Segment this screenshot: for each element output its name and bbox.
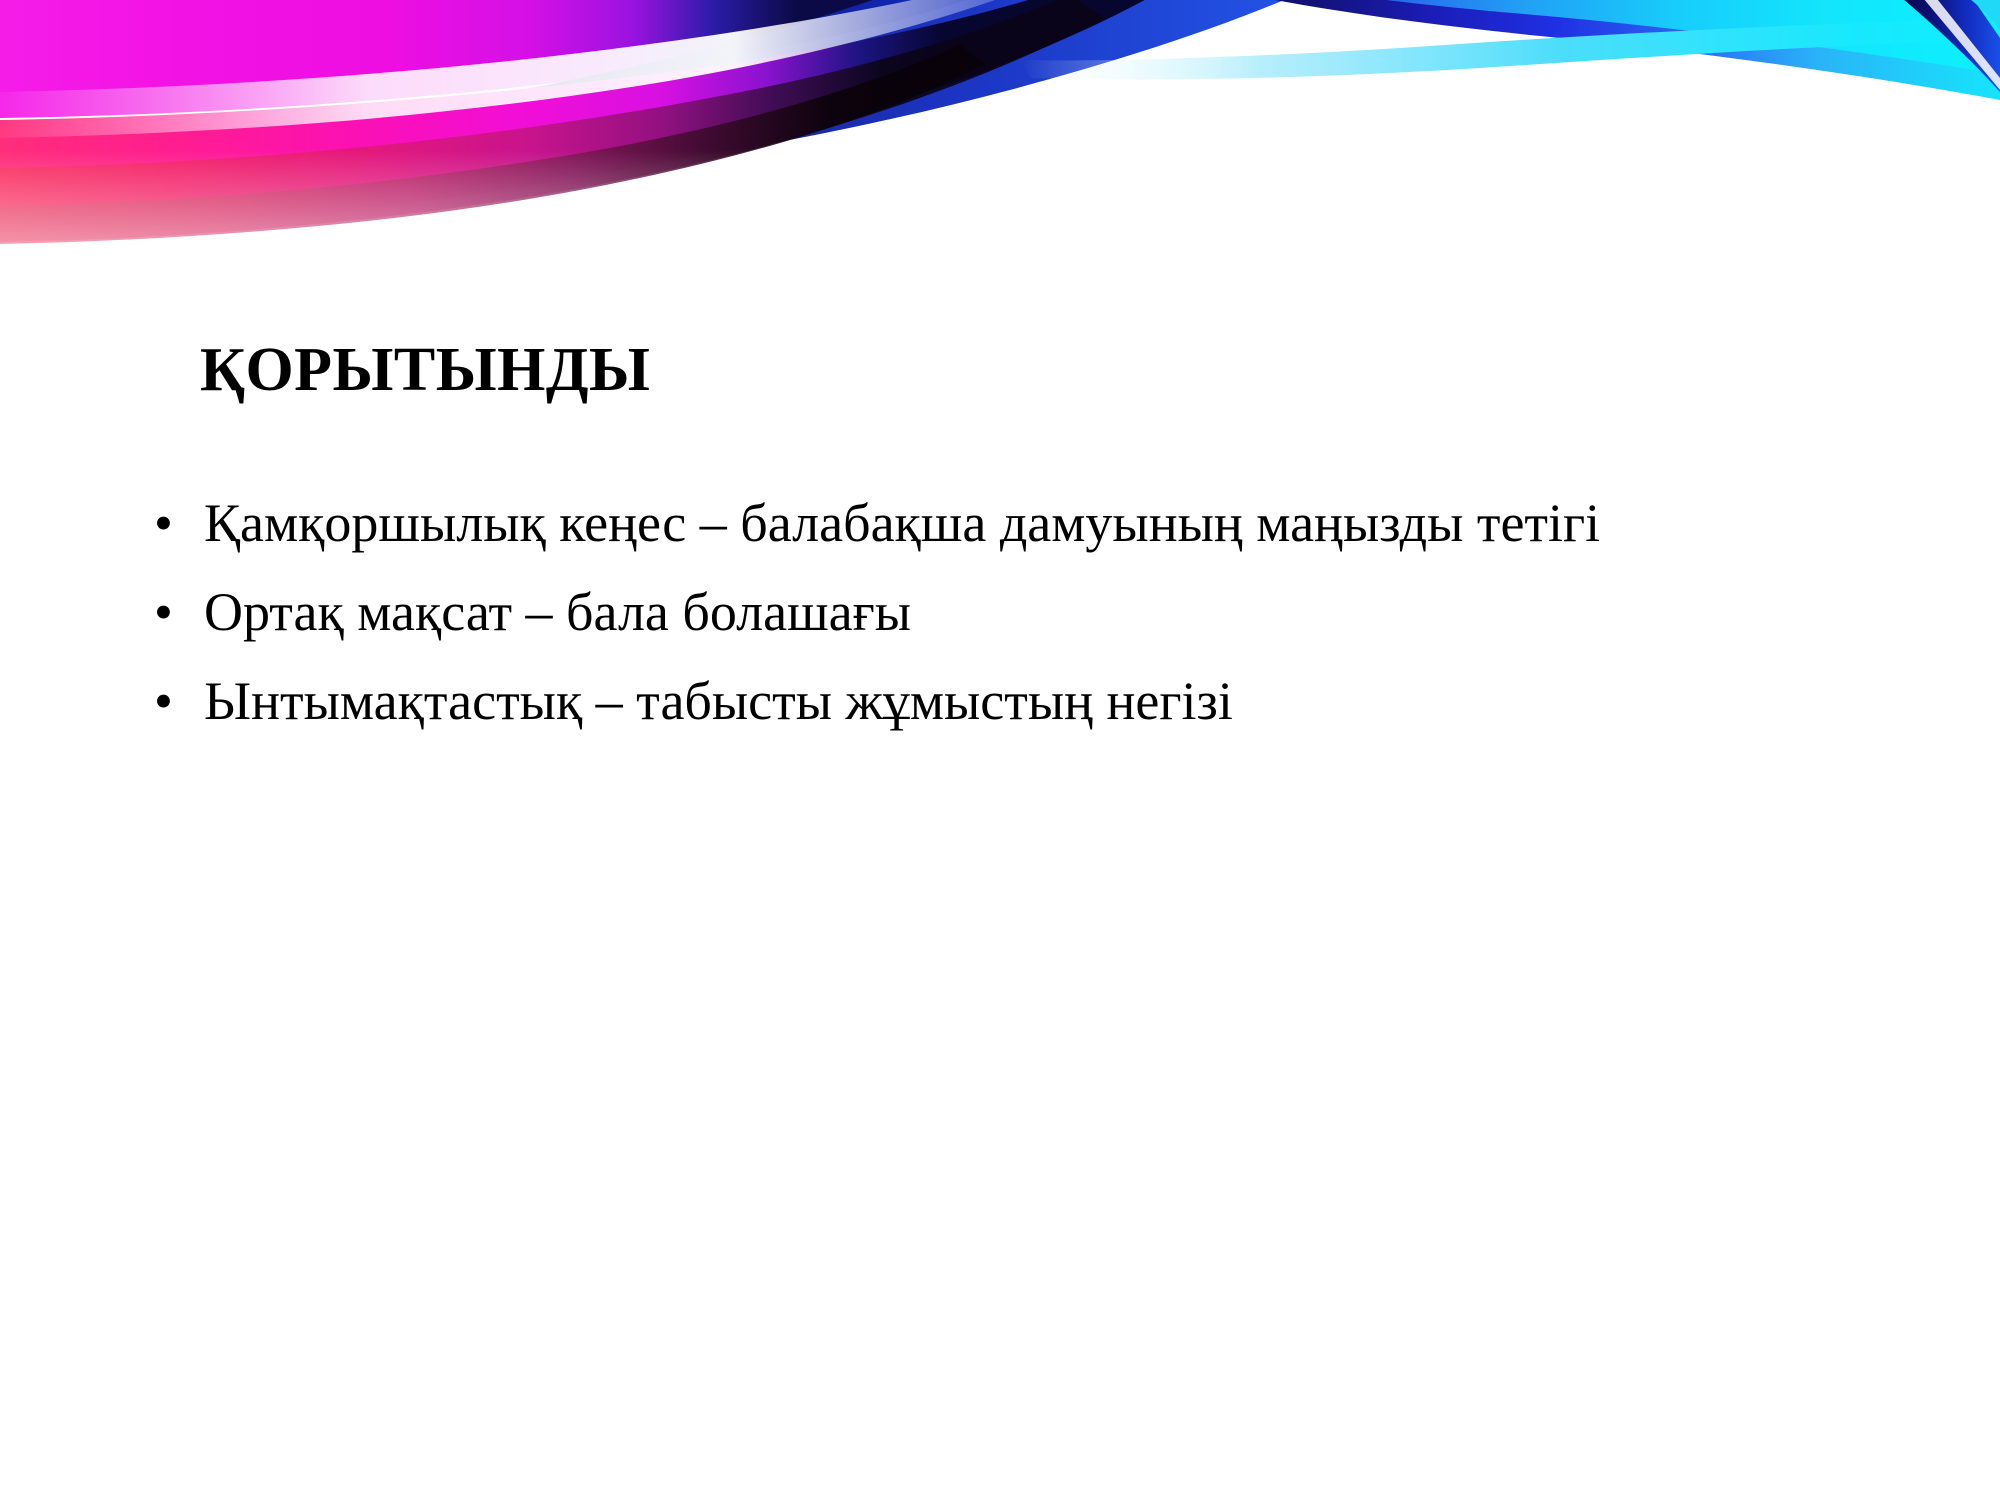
- banner-band-magenta-top: [0, 0, 1020, 118]
- bullet-point-icon: •: [154, 492, 173, 555]
- banner-highlight-streak-right: [1908, 0, 2000, 90]
- bullet-item-2: • Ортақ мақсат – бала болашағы: [148, 581, 1908, 644]
- decorative-swoosh-banner: [0, 0, 2000, 260]
- bullet-item-2-text: Ортақ мақсат – бала болашағы: [204, 581, 1908, 644]
- banner-band-crimson: [0, 44, 985, 244]
- bullet-item-3-text: Ынтымақтастық – табысты жұмыстың негізі: [204, 670, 1908, 733]
- banner-highlight-streak-pink: [0, 0, 1048, 138]
- bullet-item-3: • Ынтымақтастық – табысты жұмыстың негіз…: [148, 670, 1908, 733]
- slide-canvas: ҚОРЫТЫНДЫ • Қамқоршылық кеңес – балабақш…: [0, 0, 2000, 1500]
- banner-band-navy-wedge: [0, 0, 1330, 224]
- banner-band-rose: [0, 0, 1105, 242]
- banner-band-cyan-main: [1260, 0, 2000, 74]
- slide-title: ҚОРЫТЫНДЫ: [200, 338, 650, 404]
- banner-band-blue-dark: [1180, 0, 2000, 100]
- banner-ribbon-navy-right: [1880, 0, 2000, 92]
- banner-fade-mask: [0, 150, 2000, 260]
- banner-band-cyan-sweep: [1020, 18, 2000, 80]
- banner-band-magenta-main: [0, 0, 1180, 232]
- slide-bullet-list: • Қамқоршылық кеңес – балабақша дамуының…: [148, 492, 1908, 734]
- bullet-item-1-text: Қамқоршылық кеңес – балабақша дамуының м…: [204, 492, 1908, 555]
- bullet-point-icon: •: [154, 670, 173, 733]
- bullet-point-icon: •: [154, 581, 173, 644]
- bullet-item-1: • Қамқоршылық кеңес – балабақша дамуының…: [148, 492, 1908, 555]
- banner-band-cyan-corner: [1946, 0, 2000, 30]
